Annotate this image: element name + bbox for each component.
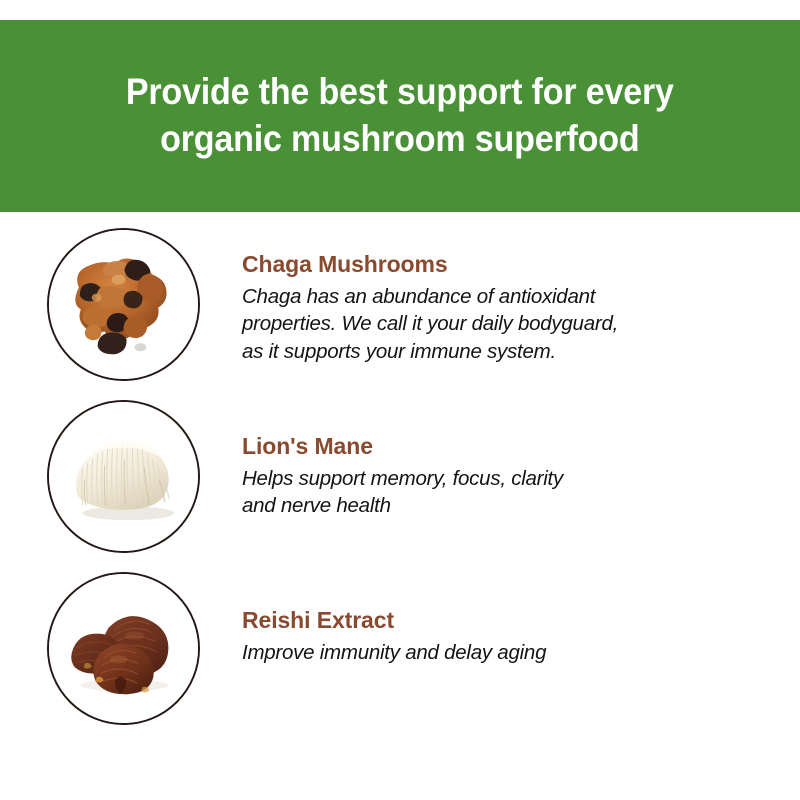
item-title: Chaga Mushrooms: [242, 250, 764, 279]
item-title: Lion's Mane: [242, 432, 764, 461]
item-text-block: Chaga Mushrooms Chaga has an abundance o…: [200, 228, 800, 365]
thumbnail-circle-outline: [47, 572, 200, 725]
lions-mane-thumbnail: [47, 400, 200, 553]
thumbnail-circle-outline: [47, 228, 200, 381]
chaga-thumbnail: [47, 228, 200, 381]
item-text-block: Reishi Extract Improve immunity and dela…: [200, 572, 800, 666]
reishi-mushroom-photo-icon: [49, 574, 198, 723]
lions-mane-mushroom-photo-icon: [49, 402, 198, 551]
page-title: Provide the best support for every organ…: [126, 69, 674, 163]
list-item: Chaga Mushrooms Chaga has an abundance o…: [0, 228, 800, 381]
item-description: Chaga has an abundance of antioxidant pr…: [242, 283, 764, 365]
list-item: Reishi Extract Improve immunity and dela…: [0, 572, 800, 725]
chaga-mushroom-photo-icon: [49, 230, 198, 379]
infographic-page: Provide the best support for every organ…: [0, 0, 800, 800]
item-text-block: Lion's Mane Helps support memory, focus,…: [200, 400, 800, 520]
list-item: Lion's Mane Helps support memory, focus,…: [0, 400, 800, 553]
reishi-thumbnail: [47, 572, 200, 725]
header-banner: Provide the best support for every organ…: [0, 20, 800, 212]
thumbnail-circle-outline: [47, 400, 200, 553]
item-title: Reishi Extract: [242, 606, 764, 635]
item-description: Helps support memory, focus, clarity and…: [242, 465, 764, 520]
item-description: Improve immunity and delay aging: [242, 639, 764, 666]
